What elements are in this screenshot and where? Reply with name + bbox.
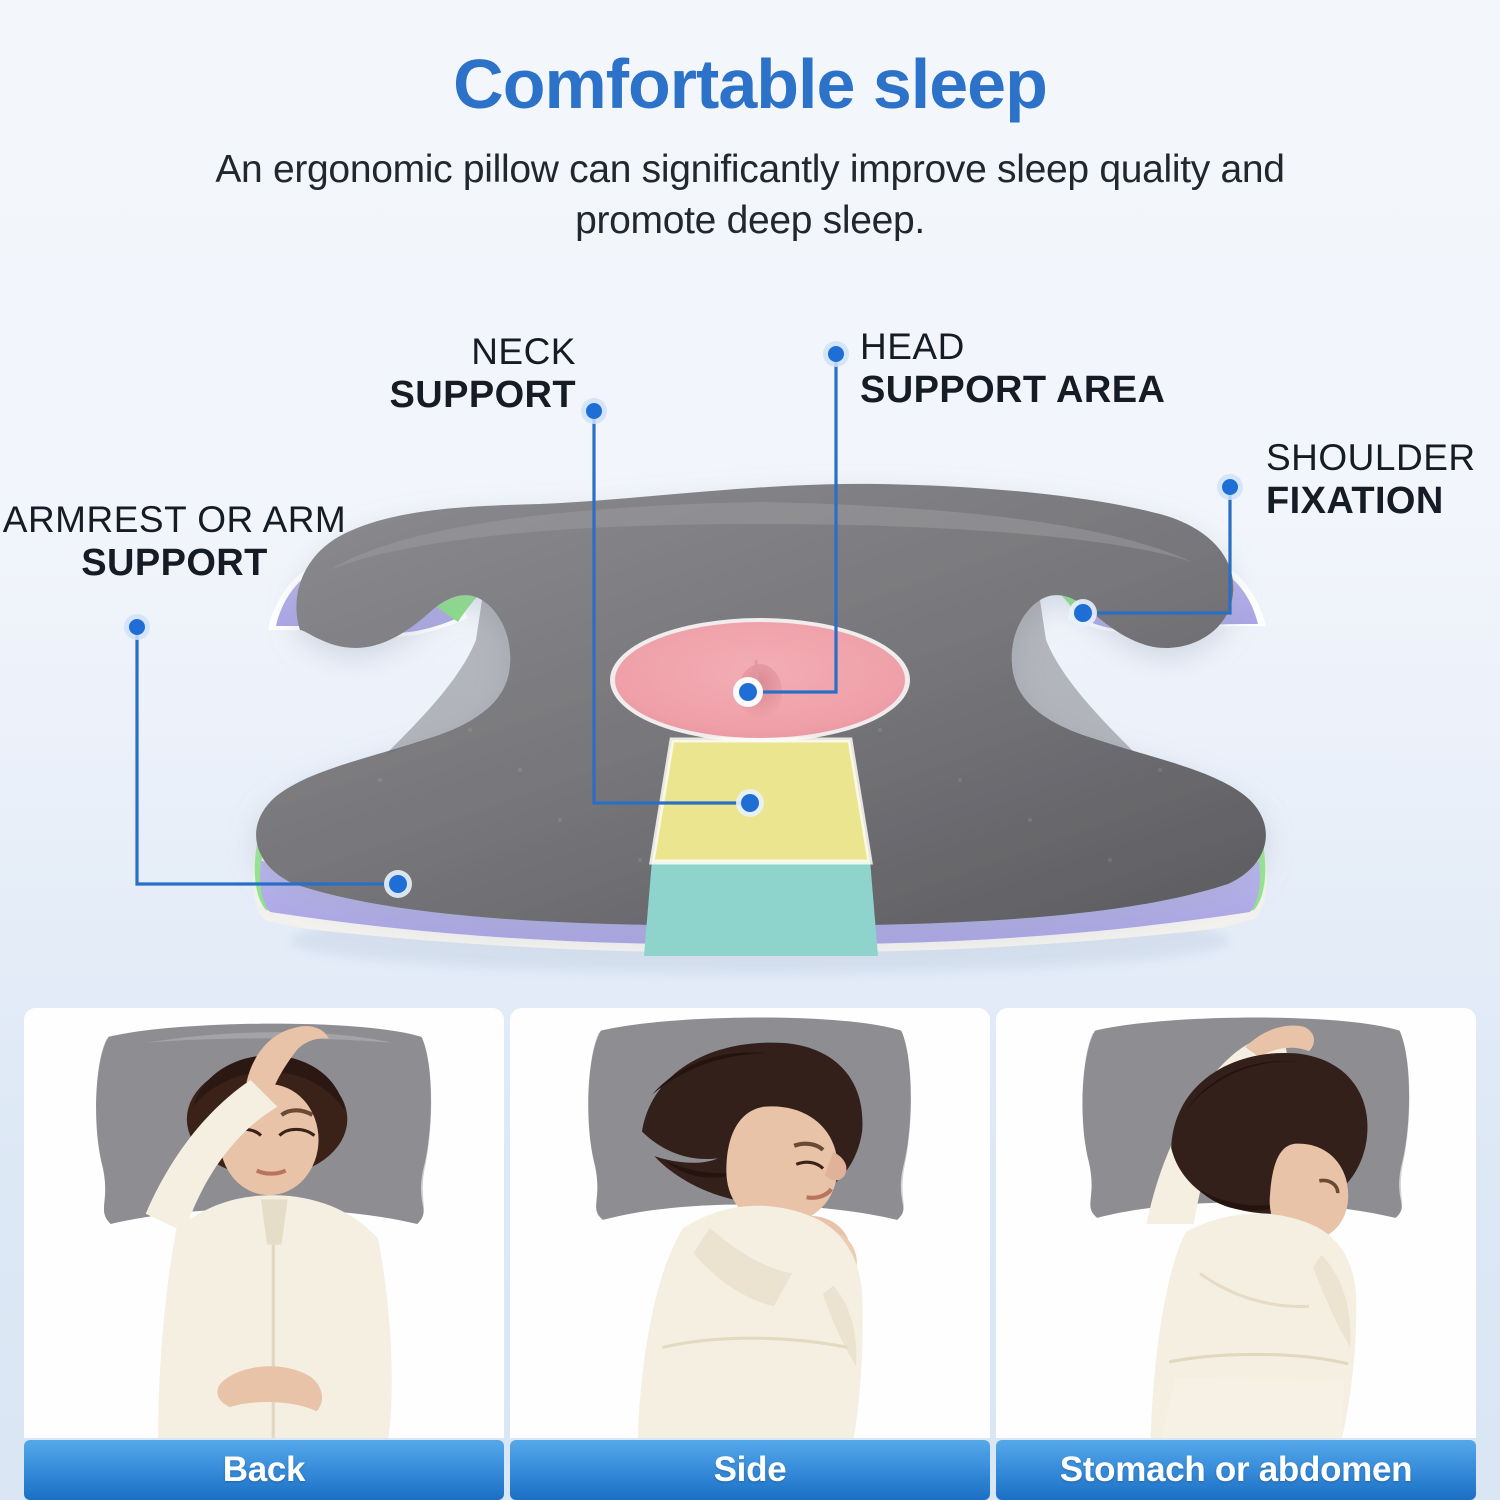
panel-stomach: Stomach or abdomen bbox=[996, 1008, 1476, 1500]
infographic-page: Comfortable sleep An ergonomic pillow ca… bbox=[0, 0, 1500, 1500]
callout-armrest-line-2: SUPPORT bbox=[2, 541, 347, 585]
callout-head-line-2: SUPPORT AREA bbox=[860, 368, 1165, 412]
panel-side: Side bbox=[510, 1008, 990, 1500]
panel-back: Back bbox=[24, 1008, 504, 1500]
callout-label-shoulder: SHOULDER FIXATION bbox=[1266, 436, 1476, 524]
callout-label-neck: NECK SUPPORT bbox=[316, 330, 576, 418]
sleeping-position-panels: Back bbox=[0, 1008, 1500, 1500]
caption-back: Back bbox=[24, 1440, 504, 1500]
photo-stomach bbox=[996, 1008, 1476, 1438]
callout-neck-line-2: SUPPORT bbox=[316, 373, 576, 417]
photo-side bbox=[510, 1008, 990, 1438]
callout-shoulder-line-1: SHOULDER bbox=[1266, 436, 1476, 479]
callout-neck-line-1: NECK bbox=[316, 330, 576, 373]
callout-head-line-1: HEAD bbox=[860, 325, 1165, 368]
photo-back bbox=[24, 1008, 504, 1438]
page-subtitle: An ergonomic pillow can significantly im… bbox=[0, 144, 1500, 247]
subtitle-line-2: promote deep sleep. bbox=[0, 195, 1500, 246]
caption-stomach: Stomach or abdomen bbox=[996, 1440, 1476, 1500]
page-title: Comfortable sleep bbox=[0, 48, 1500, 122]
subtitle-line-1: An ergonomic pillow can significantly im… bbox=[0, 144, 1500, 195]
zone-cervical-support bbox=[644, 860, 878, 956]
pillow-illustration bbox=[0, 300, 1500, 1000]
callout-armrest-line-1: ARMREST OR ARM bbox=[2, 498, 347, 541]
header: Comfortable sleep An ergonomic pillow ca… bbox=[0, 0, 1500, 246]
callout-label-armrest: ARMREST OR ARM SUPPORT bbox=[2, 498, 347, 586]
pillow-diagram: CERVICAL SUPPORT bbox=[0, 300, 1500, 1000]
callout-label-head: HEAD SUPPORT AREA bbox=[860, 325, 1165, 413]
callout-shoulder-line-2: FIXATION bbox=[1266, 479, 1476, 523]
caption-side: Side bbox=[510, 1440, 990, 1500]
